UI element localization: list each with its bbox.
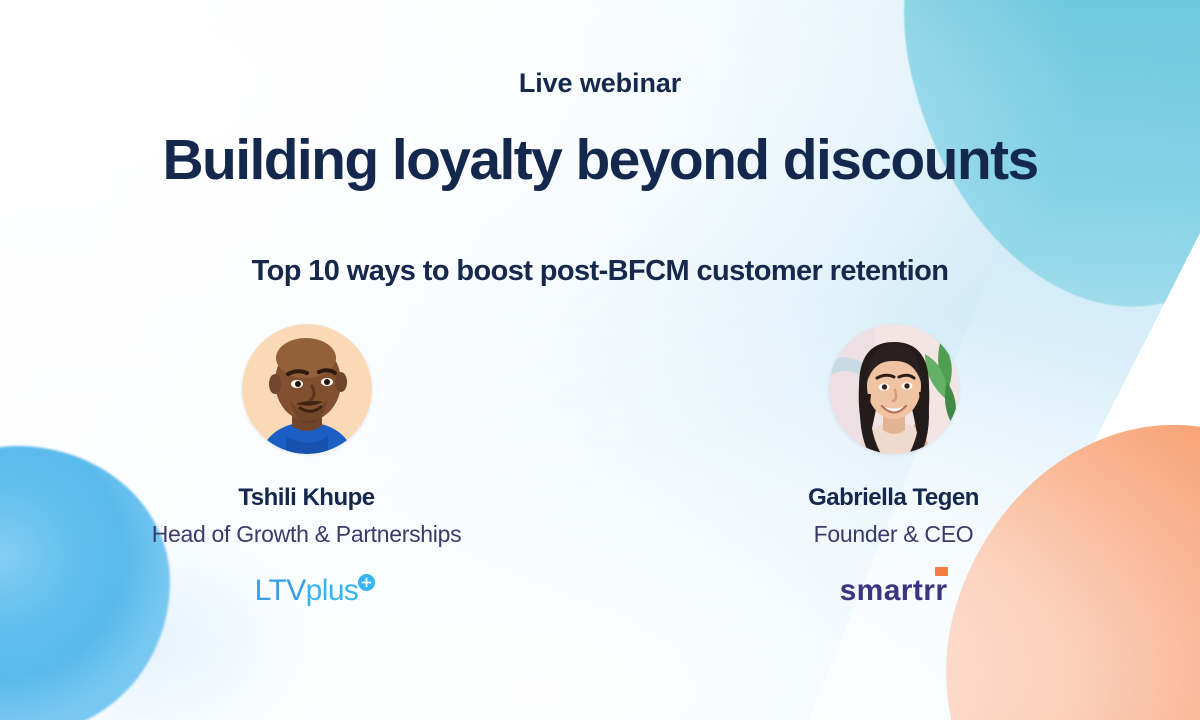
avatar	[829, 324, 959, 454]
eyebrow-label: Live webinar	[519, 68, 681, 99]
webinar-promo-card: Live webinar Building loyalty beyond dis…	[0, 0, 1200, 720]
speaker-name: Gabriella Tegen	[808, 484, 979, 512]
speaker-list: Tshili Khupe Head of Growth & Partnershi…	[157, 324, 1044, 608]
logo-word-primary: LTV	[255, 574, 306, 607]
avatar	[242, 324, 372, 454]
speaker-name: Tshili Khupe	[238, 484, 374, 512]
speaker-card: Gabriella Tegen Founder & CEO smartrr	[744, 324, 1044, 608]
logo-word-secondary: plus	[306, 574, 359, 607]
speaker-role: Head of Growth & Partnerships	[152, 521, 462, 548]
page-subtitle: Top 10 ways to boost post-BFCM customer …	[252, 255, 949, 288]
orange-square-icon	[935, 567, 948, 576]
speaker-card: Tshili Khupe Head of Growth & Partnershi…	[157, 324, 457, 608]
company-logo-smartrr: smartrr	[840, 574, 948, 608]
logo-wordmark: smartrr	[840, 574, 948, 607]
plus-circle-icon	[358, 567, 375, 584]
company-logo-ltvplus: LTVplus	[255, 574, 359, 608]
page-title: Building loyalty beyond discounts	[162, 132, 1037, 189]
content-stack: Live webinar Building loyalty beyond dis…	[0, 0, 1200, 720]
speaker-role: Founder & CEO	[814, 521, 974, 548]
